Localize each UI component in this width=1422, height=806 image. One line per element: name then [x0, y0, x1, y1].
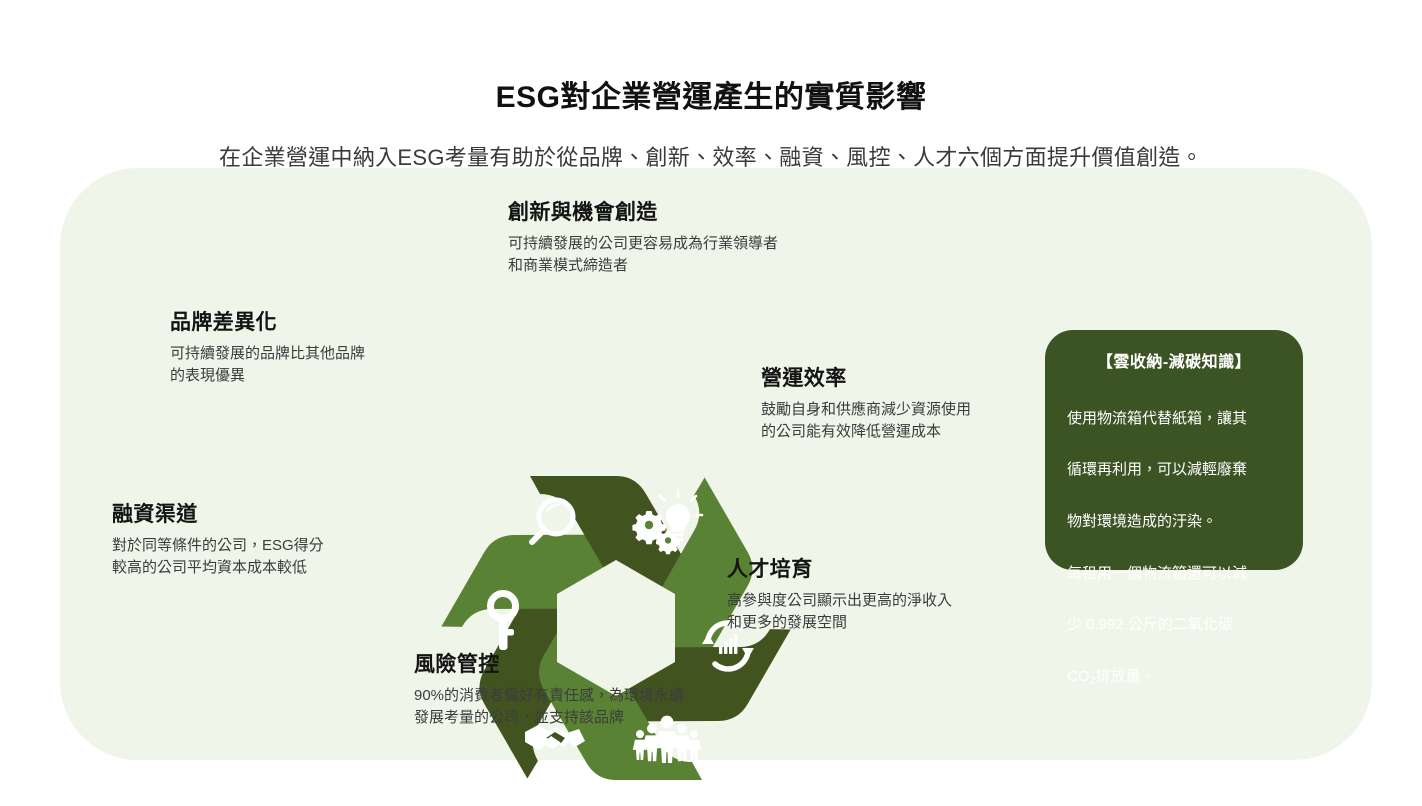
callout-innovation-title: 創新與機會創造 [508, 196, 888, 226]
callout-innovation: 創新與機會創造 可持續發展的公司更容易成為行業領導者 和商業模式締造者 [508, 196, 888, 277]
callout-finance-title: 融資渠道 [112, 498, 412, 528]
callout-finance: 融資渠道 對於同等條件的公司，ESG得分 較高的公司平均資本成本較低 [112, 498, 412, 579]
carbon-knowledge-card-body: 使用物流箱代替紙箱，讓其 循環再利用，可以減輕廢棄 物對環境造成的汙染。 每租用… [1067, 380, 1281, 690]
card-line-3: 物對環境造成的汙染。 [1067, 513, 1217, 530]
card-line-4: 每租用一個物流箱還可以減 [1067, 565, 1247, 582]
callout-talent: 人才培育 高參與度公司顯示出更高的淨收入 和更多的發展空間 [727, 553, 1027, 634]
card-line-6-post: 排放量。 [1096, 668, 1156, 685]
card-line-2: 循環再利用，可以減輕廢棄 [1067, 461, 1247, 478]
card-line-1: 使用物流箱代替紙箱，讓其 [1067, 410, 1247, 427]
card-line-6-pre: CO [1067, 668, 1090, 685]
callout-risk-desc: 90%的消費者偏好有責任感，為環境永續 發展考量的公司，並支持該品牌 [414, 685, 734, 729]
callout-efficiency-title: 營運效率 [761, 362, 1031, 392]
callout-finance-desc: 對於同等條件的公司，ESG得分 較高的公司平均資本成本較低 [112, 535, 412, 579]
callout-brand-desc: 可持續發展的品牌比其他品牌 的表現優異 [170, 343, 430, 387]
callout-efficiency-desc: 鼓勵自身和供應商減少資源使用 的公司能有效降低營運成本 [761, 399, 1031, 443]
callout-risk-title: 風險管控 [414, 648, 734, 678]
callout-risk: 風險管控 90%的消費者偏好有責任感，為環境永續 發展考量的公司，並支持該品牌 [414, 648, 734, 729]
callout-brand-title: 品牌差異化 [170, 306, 430, 336]
carbon-knowledge-card: 【雲收納-減碳知識】 使用物流箱代替紙箱，讓其 循環再利用，可以減輕廢棄 物對環… [1045, 330, 1303, 570]
callout-innovation-desc: 可持續發展的公司更容易成為行業領導者 和商業模式締造者 [508, 233, 888, 277]
callout-talent-desc: 高參與度公司顯示出更高的淨收入 和更多的發展空間 [727, 590, 1027, 634]
page-title: ESG對企業營運產生的實質影響 [0, 72, 1422, 116]
carbon-knowledge-card-title: 【雲收納-減碳知識】 [1067, 348, 1281, 372]
card-line-6-subscript: 2 [1090, 675, 1096, 687]
card-line-5: 少 0.992 公斤的二氧化碳 [1067, 616, 1233, 633]
callout-talent-title: 人才培育 [727, 553, 1027, 583]
callout-brand: 品牌差異化 可持續發展的品牌比其他品牌 的表現優異 [170, 306, 430, 387]
callout-efficiency: 營運效率 鼓勵自身和供應商減少資源使用 的公司能有效降低營運成本 [761, 362, 1031, 443]
